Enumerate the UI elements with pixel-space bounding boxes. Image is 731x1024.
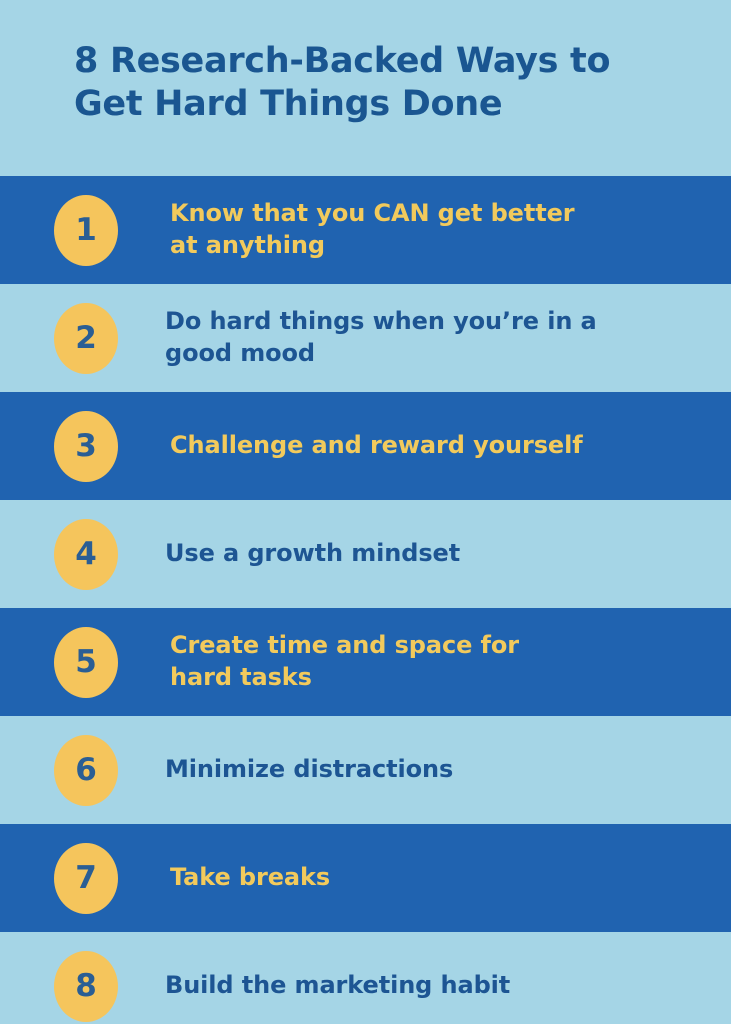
list-item-label: Know that you CAN get better at anything [170, 198, 731, 262]
item-number-badge: 5 [54, 627, 118, 698]
list-item: 4 Use a growth mindset [0, 500, 731, 608]
list-item: 7 Take breaks [0, 824, 731, 932]
item-number-badge: 1 [54, 195, 118, 266]
list-item-label: Minimize distractions [165, 754, 731, 786]
list-item-label: Create time and space for hard tasks [170, 630, 731, 694]
list-item: 5 Create time and space for hard tasks [0, 608, 731, 716]
list-item-label: Challenge and reward yourself [170, 430, 731, 462]
list-item-label: Take breaks [170, 862, 731, 894]
page-title: 8 Research-Backed Ways to Get Hard Thing… [74, 40, 671, 127]
item-number-badge: 8 [54, 951, 118, 1022]
title-block: 8 Research-Backed Ways to Get Hard Thing… [0, 0, 731, 176]
list-item: 3 Challenge and reward yourself [0, 392, 731, 500]
item-number-badge: 2 [54, 303, 118, 374]
item-number-badge: 3 [54, 411, 118, 482]
list-item-label: Do hard things when you’re in a good moo… [165, 306, 731, 370]
list-item: 1 Know that you CAN get better at anythi… [0, 176, 731, 284]
list-item: 6 Minimize distractions [0, 716, 731, 824]
item-number-badge: 7 [54, 843, 118, 914]
item-number-badge: 6 [54, 735, 118, 806]
list-item: 2 Do hard things when you’re in a good m… [0, 284, 731, 392]
infographic-poster: 8 Research-Backed Ways to Get Hard Thing… [0, 0, 731, 1024]
item-number-badge: 4 [54, 519, 118, 590]
list-item-label: Use a growth mindset [165, 538, 731, 570]
list-item: 8 Build the marketing habit [0, 932, 731, 1024]
list-item-label: Build the marketing habit [165, 970, 731, 1002]
tips-list: 1 Know that you CAN get better at anythi… [0, 176, 731, 1024]
